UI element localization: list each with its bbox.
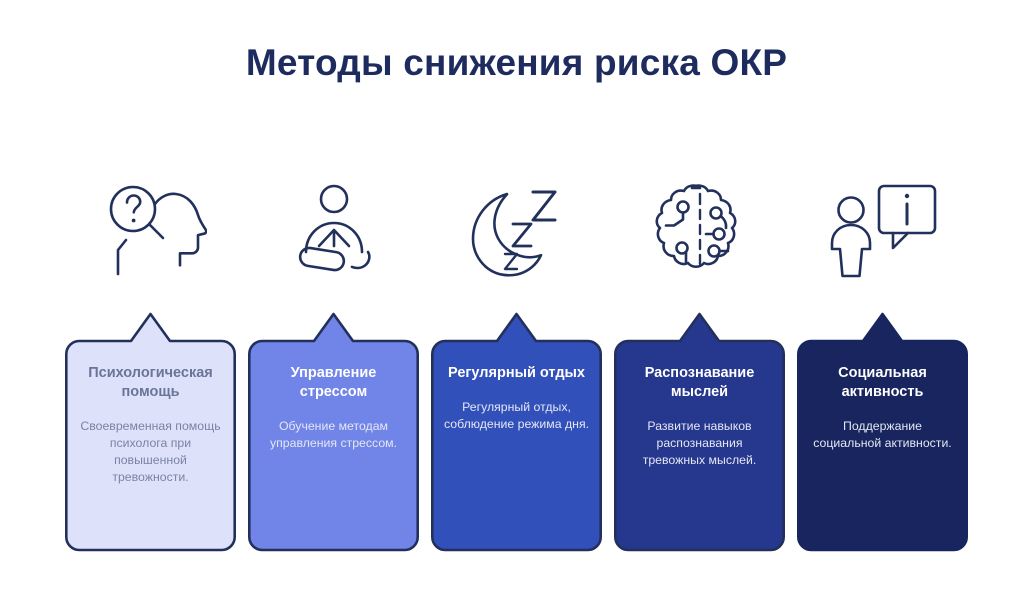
icon-cell-2 [248,172,419,287]
card-title: Регулярный отдых [443,364,590,383]
icon-row [65,172,968,287]
icon-cell-5 [797,172,968,287]
meditating-person-icon [284,180,384,280]
card-description: Обучение методам управления стрессом. [260,418,407,452]
icon-cell-3 [431,172,602,287]
card-title: Распознавание мыслей [626,364,773,402]
card-content-3: Регулярный отдых Регулярный отдых, соблю… [431,340,602,433]
card-title: Психологическая помощь [77,364,224,402]
card-content-1: Психологическая помощь Своевременная пом… [65,340,236,486]
brain-circuit-icon [648,180,752,280]
icon-cell-1 [65,172,236,287]
head-magnifier-question-icon [95,180,207,280]
moon-sleep-zzz-icon [461,180,573,280]
card-description: Регулярный отдых, соблюдение режима дня. [443,399,590,433]
card-row: Психологическая помощь Своевременная пом… [65,312,968,552]
card-title: Управление стрессом [260,364,407,402]
card-content-2: Управление стрессом Обучение методам упр… [248,340,419,452]
card-thought-recognition[interactable]: Распознавание мыслей Развитие навыков ра… [614,312,785,552]
card-description: Поддержание социальной активности. [809,418,956,452]
page-title: Методы снижения риска ОКР [0,42,1033,84]
card-description: Развитие навыков распознавания тревожных… [626,418,773,469]
card-title: Социальная активность [809,364,956,402]
person-speech-bubble-info-icon [825,180,941,280]
card-stress-management[interactable]: Управление стрессом Обучение методам упр… [248,312,419,552]
card-content-5: Социальная активность Поддержание социал… [797,340,968,452]
card-content-4: Распознавание мыслей Развитие навыков ра… [614,340,785,469]
card-regular-rest[interactable]: Регулярный отдых Регулярный отдых, соблю… [431,312,602,552]
icon-cell-4 [614,172,785,287]
card-description: Своевременная помощь психолога при повыш… [77,418,224,486]
infographic-root: Методы снижения риска ОКР [0,0,1033,596]
card-social-activity[interactable]: Социальная активность Поддержание социал… [797,312,968,552]
card-psychological-help[interactable]: Психологическая помощь Своевременная пом… [65,312,236,552]
